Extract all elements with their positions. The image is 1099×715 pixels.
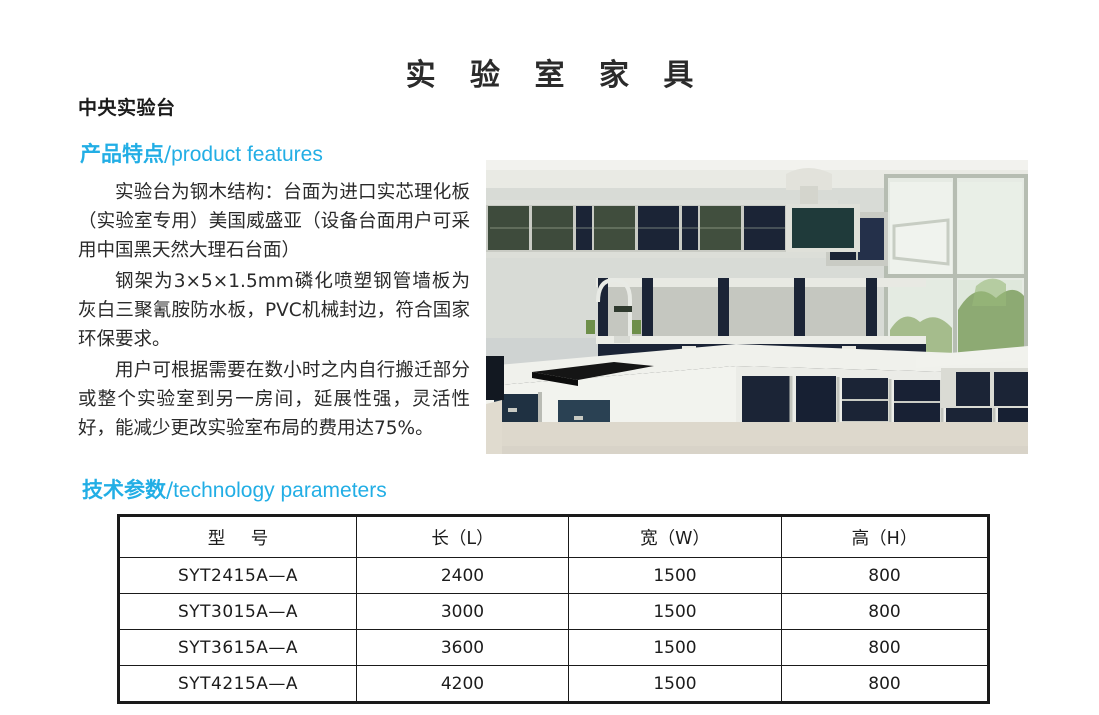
- product-name-heading: 中央实验台: [78, 93, 470, 120]
- feature-paragraph-1: 实验台为钢木结构：台面为进口实芯理化板（实验室专用）美国威盛亚（设备台面用户可采…: [78, 178, 470, 265]
- cell-width: 1500: [569, 630, 782, 666]
- tech-parameters-heading: 技术参数/technology parameters: [82, 474, 387, 504]
- tech-parameters-heading-wrap: 技术参数/technology parameters: [80, 474, 387, 514]
- table-header-model: 型 号: [119, 516, 357, 558]
- product-features-heading: 产品特点/product features: [80, 138, 470, 168]
- product-features-heading-cn: 产品特点: [80, 142, 164, 166]
- cell-height: 800: [782, 630, 989, 666]
- table-row: SYT2415A—A 2400 1500 800: [119, 558, 989, 594]
- cell-width: 1500: [569, 594, 782, 630]
- cell-model: SYT4215A—A: [119, 666, 357, 703]
- table-header-width: 宽（W）: [569, 516, 782, 558]
- specifications-table: 型 号 长（L） 宽（W） 高（H） SYT2415A—A 2400 1500 …: [117, 514, 990, 704]
- table-header-height: 高（H）: [782, 516, 989, 558]
- laboratory-bench-photo: [486, 160, 1028, 454]
- cell-length: 2400: [357, 558, 569, 594]
- cell-height: 800: [782, 666, 989, 703]
- cell-length: 4200: [357, 666, 569, 703]
- table-header-row: 型 号 长（L） 宽（W） 高（H）: [119, 516, 989, 558]
- table-row: SYT3615A—A 3600 1500 800: [119, 630, 989, 666]
- cell-model: SYT3615A—A: [119, 630, 357, 666]
- feature-paragraph-2: 钢架为3×5×1.5mm磷化喷塑钢管墙板为灰白三聚氰胺防水板，PVC机械封边，符…: [78, 267, 470, 354]
- cell-length: 3000: [357, 594, 569, 630]
- page-title: 实 验 室 家 具: [0, 50, 1099, 94]
- product-features-heading-en: product features: [171, 143, 323, 166]
- cell-model: SYT2415A—A: [119, 558, 357, 594]
- table-row: SYT4215A—A 4200 1500 800: [119, 666, 989, 703]
- cell-width: 1500: [569, 666, 782, 703]
- cell-length: 3600: [357, 630, 569, 666]
- tech-parameters-heading-cn: 技术参数: [82, 478, 166, 502]
- cell-height: 800: [782, 594, 989, 630]
- feature-paragraph-3: 用户可根据需要在数小时之内自行搬迁部分或整个实验室到另一房间，延展性强，灵活性好…: [78, 356, 470, 443]
- table-row: SYT3015A—A 3000 1500 800: [119, 594, 989, 630]
- tech-parameters-heading-en: technology parameters: [173, 479, 387, 502]
- cell-height: 800: [782, 558, 989, 594]
- cell-width: 1500: [569, 558, 782, 594]
- cell-model: SYT3015A—A: [119, 594, 357, 630]
- left-content-column: 中央实验台 产品特点/product features 实验台为钢木结构：台面为…: [78, 93, 470, 445]
- lab-photo-illustration: [486, 160, 1028, 454]
- table-header-length: 长（L）: [357, 516, 569, 558]
